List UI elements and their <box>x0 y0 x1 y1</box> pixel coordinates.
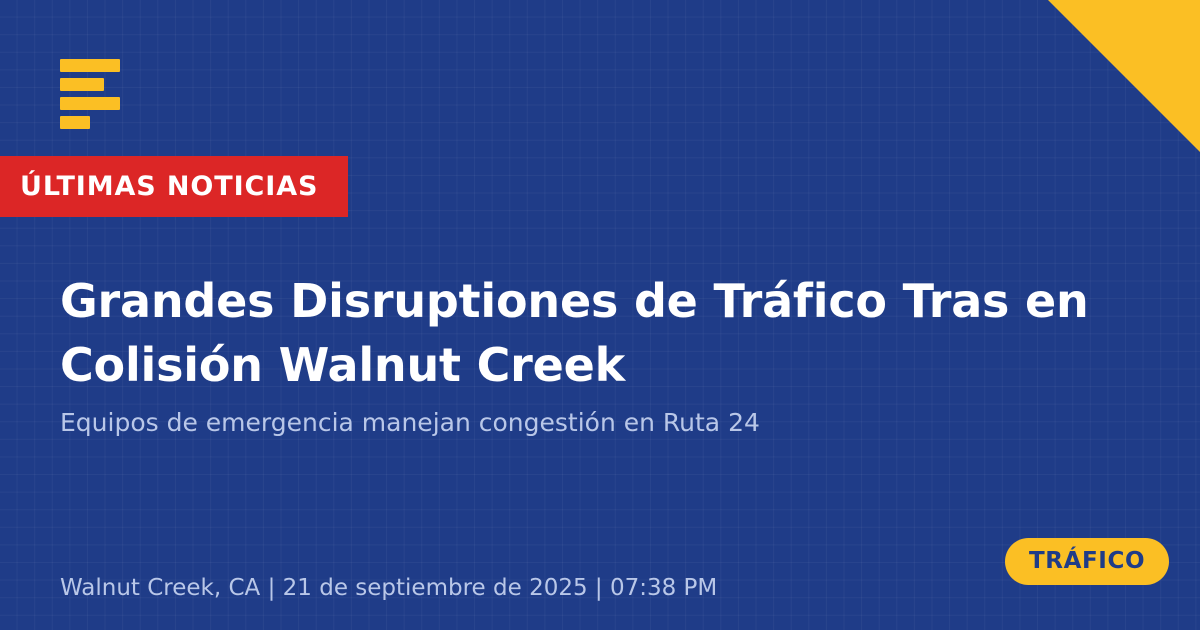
breaking-news-label: ÚLTIMAS NOTICIAS <box>20 173 318 200</box>
subtitle: Equipos de emergencia manejan congestión… <box>60 406 1120 440</box>
category-badge: TRÁFICO <box>1005 538 1169 585</box>
news-graphic-card: ÚLTIMAS NOTICIAS Grandes Disruptiones de… <box>0 0 1200 630</box>
logo-bar-1 <box>60 59 120 72</box>
brand-logo <box>60 59 120 129</box>
logo-bar-3 <box>60 97 120 110</box>
category-badge-label: TRÁFICO <box>1029 550 1145 573</box>
article-meta: Walnut Creek, CA | 21 de septiembre de 2… <box>60 573 717 603</box>
logo-bar-2 <box>60 78 104 91</box>
corner-accent-triangle <box>1048 0 1200 152</box>
logo-bar-4 <box>60 116 90 129</box>
headline: Grandes Disruptiones de Tráfico Tras en … <box>60 269 1200 397</box>
breaking-news-banner: ÚLTIMAS NOTICIAS <box>0 156 348 217</box>
